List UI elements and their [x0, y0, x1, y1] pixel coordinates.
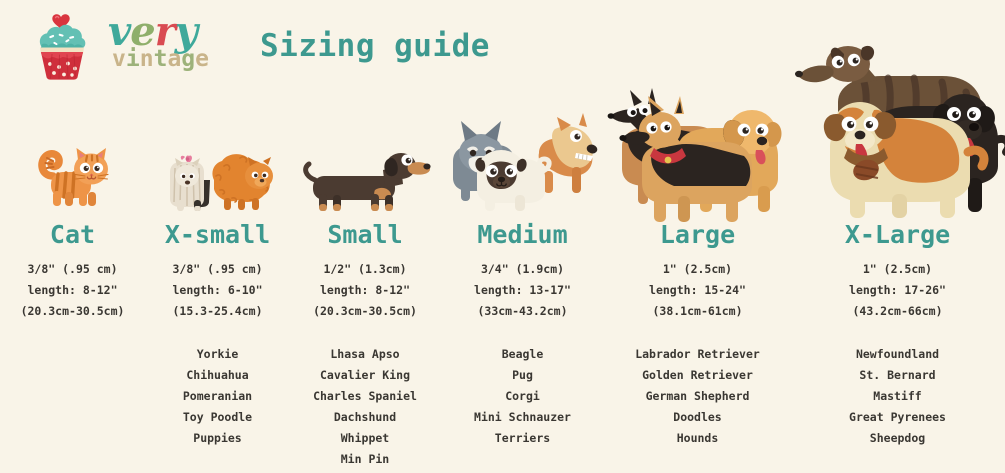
measure-width: 3/4" (1.9cm)	[474, 259, 571, 280]
size-column-medium: Medium 3/4" (1.9cm) length: 13-17" (33cm…	[440, 96, 605, 473]
breed-item: Pug	[474, 365, 571, 386]
measurements-small: 1/2" (1.3cm) length: 8-12" (20.3cm-30.5c…	[313, 259, 417, 322]
breed-item: Corgi	[474, 386, 571, 407]
measure-width: 3/8" (.95 cm)	[172, 259, 262, 280]
size-label-x-small: X-small	[165, 222, 270, 247]
brand-logo[interactable]: very vintage	[28, 10, 234, 82]
yorkie-and-pomeranian-icon	[154, 136, 282, 214]
measure-length-in: length: 13-17"	[474, 280, 571, 301]
breed-item: German Shepherd	[635, 386, 760, 407]
cupcake-icon	[28, 10, 100, 82]
breed-list-small: Lhasa Apso Cavalier King Charles Spaniel…	[313, 344, 417, 470]
page-title: Sizing guide	[260, 28, 490, 64]
size-label-large: Large	[660, 222, 735, 247]
measure-length-in: length: 17-26"	[849, 280, 946, 301]
brand-wordmark: very vintage	[94, 10, 234, 82]
schnauzer-pug-bullterrier-icon	[443, 109, 603, 214]
measure-length-in: length: 8-12"	[313, 280, 417, 301]
measurements-x-small: 3/8" (.95 cm) length: 6-10" (15.3-25.4cm…	[172, 259, 262, 322]
breed-item: Lhasa Apso	[313, 344, 417, 365]
size-column-x-large: X-Large 1" (2.5cm) length: 17-26" (43.2c…	[790, 96, 1005, 473]
medium-illustration	[440, 96, 605, 214]
measure-width: 1" (2.5cm)	[649, 259, 746, 280]
size-label-medium: Medium	[477, 222, 567, 247]
breed-list-large: Labrador Retriever Golden Retriever Germ…	[635, 344, 760, 449]
dachshund-icon	[297, 136, 433, 214]
greatdane-newfoundland-stbernard-icon	[792, 36, 1004, 218]
x-large-illustration	[790, 96, 1005, 214]
small-illustration	[290, 96, 440, 214]
measure-length-in: length: 8-12"	[21, 280, 125, 301]
size-columns: Cat 3/8" (.95 cm) length: 8-12" (20.3cm-…	[0, 96, 1005, 473]
breed-item: Mini Schnauzer	[474, 407, 571, 428]
measurements-x-large: 1" (2.5cm) length: 17-26" (43.2cm-66cm)	[849, 259, 946, 322]
breed-item: St. Bernard	[849, 365, 946, 386]
breed-item: Hounds	[635, 428, 760, 449]
breed-list-x-small: Yorkie Chihuahua Pomeranian Toy Poodle P…	[183, 344, 252, 449]
size-column-small: Small 1/2" (1.3cm) length: 8-12" (20.3cm…	[290, 96, 440, 473]
breed-item: Great Pyrenees	[849, 407, 946, 428]
breed-item: Dachshund	[313, 407, 417, 428]
logo-letter: n	[140, 46, 154, 72]
measure-length-cm: (20.3cm-30.5cm)	[313, 301, 417, 322]
measure-length-cm: (38.1cm-61cm)	[649, 301, 746, 322]
breed-list-medium: Beagle Pug Corgi Mini Schnauzer Terriers	[474, 344, 571, 449]
breed-item: Terriers	[474, 428, 571, 449]
logo-letter: t	[154, 46, 168, 72]
brand-name-vintage: vintage	[112, 48, 209, 71]
measurements-large: 1" (2.5cm) length: 15-24" (38.1cm-61cm)	[649, 259, 746, 322]
measure-length-cm: (33cm-43.2cm)	[474, 301, 571, 322]
logo-letter: i	[126, 46, 140, 72]
measure-width: 3/8" (.95 cm)	[21, 259, 125, 280]
size-label-x-large: X-Large	[845, 222, 950, 247]
size-label-small: Small	[327, 222, 402, 247]
measure-width: 1/2" (1.3cm)	[313, 259, 417, 280]
measure-length-in: length: 6-10"	[172, 280, 262, 301]
size-column-x-small: X-small 3/8" (.95 cm) length: 6-10" (15.…	[145, 96, 290, 473]
breed-item: Toy Poodle	[183, 407, 252, 428]
breed-list-x-large: Newfoundland St. Bernard Mastiff Great P…	[849, 344, 946, 449]
large-illustration	[605, 96, 790, 214]
breed-item: Cavalier King	[313, 365, 417, 386]
cat-illustration	[0, 96, 145, 214]
measure-length-cm: (15.3-25.4cm)	[172, 301, 262, 322]
breed-item: Whippet	[313, 428, 417, 449]
measure-width: 1" (2.5cm)	[849, 259, 946, 280]
breed-item: Mastiff	[849, 386, 946, 407]
x-small-illustration	[145, 96, 290, 214]
logo-letter: a	[167, 46, 181, 72]
size-column-large: Large 1" (2.5cm) length: 15-24" (38.1cm-…	[605, 96, 790, 473]
breed-item: Yorkie	[183, 344, 252, 365]
measure-length-cm: (20.3cm-30.5cm)	[21, 301, 125, 322]
breed-item: Beagle	[474, 344, 571, 365]
size-column-cat: Cat 3/8" (.95 cm) length: 8-12" (20.3cm-…	[0, 96, 145, 473]
breed-item: Newfoundland	[849, 344, 946, 365]
logo-letter: g	[181, 46, 195, 72]
size-label-cat: Cat	[50, 222, 95, 247]
breed-item: Golden Retriever	[635, 365, 760, 386]
breed-item: Puppies	[183, 428, 252, 449]
breed-item: Charles Spaniel	[313, 386, 417, 407]
breed-item: Doodles	[635, 407, 760, 428]
breed-item: Pomeranian	[183, 386, 252, 407]
breed-item: Sheepdog	[849, 428, 946, 449]
measure-length-in: length: 15-24"	[649, 280, 746, 301]
doberman-shepherd-labrador-icon	[608, 86, 788, 214]
breed-item: Labrador Retriever	[635, 344, 760, 365]
measure-length-cm: (43.2cm-66cm)	[849, 301, 946, 322]
measurements-cat: 3/8" (.95 cm) length: 8-12" (20.3cm-30.5…	[21, 259, 125, 322]
breed-item: Chihuahua	[183, 365, 252, 386]
breed-item: Min Pin	[313, 449, 417, 470]
logo-letter: v	[112, 46, 126, 72]
logo-letter: e	[195, 46, 209, 72]
measurements-medium: 3/4" (1.9cm) length: 13-17" (33cm-43.2cm…	[474, 259, 571, 322]
orange-tabby-cat-icon	[31, 128, 115, 214]
